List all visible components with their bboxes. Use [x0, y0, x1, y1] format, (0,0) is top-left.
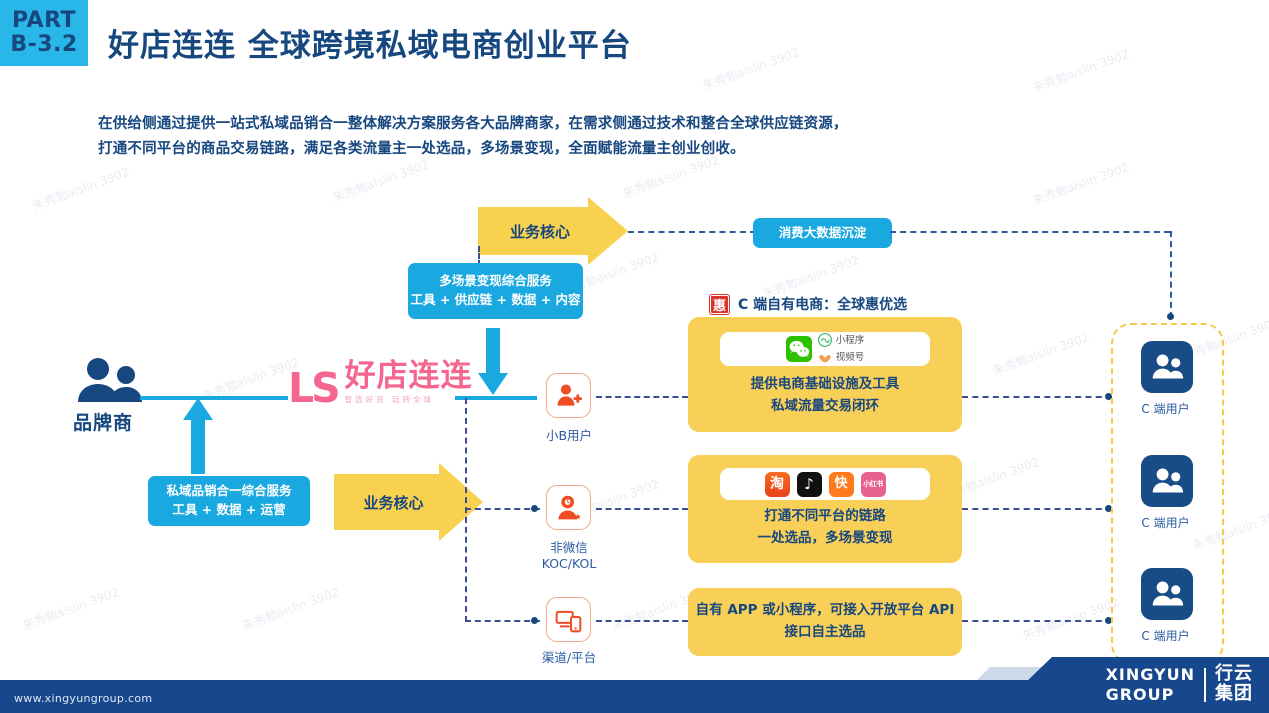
down-arrow-head-icon: [478, 373, 508, 395]
spine-dot-row2: [531, 505, 538, 512]
business-core-arrow-top: 业务核心: [478, 207, 628, 255]
users-icon: [1151, 353, 1184, 381]
xingyun-group-logo: XINGYUN GROUP 行云 集团: [1106, 665, 1253, 704]
ls-brand-logo: LS 好店连连 智选好货 玩转全球: [288, 362, 473, 405]
offer-card-wechat-line1: 提供电商基础设施及工具: [751, 374, 900, 396]
card-to-user-line-3: [962, 620, 1112, 622]
kuaishou-icon: 快: [829, 472, 854, 497]
koc-user-icon: [555, 494, 582, 521]
offer-card-platforms-line2: 一处选品，多场景变现: [758, 528, 893, 550]
hui-badge-icon: 惠: [710, 295, 729, 314]
part-badge-line2: B-3.2: [10, 33, 77, 57]
flow-line-core-to-data: [628, 231, 756, 233]
brand-merchant-icon: [76, 358, 142, 406]
page-title: 好店连连 全球跨境私域电商创业平台: [108, 20, 632, 65]
kuaishou-glyph: 快: [834, 474, 847, 495]
platform-logo-strip: 淘 ♪ 快 小红书: [720, 468, 930, 500]
douyin-icon: ♪: [797, 472, 822, 497]
mini-program-label: 小程序: [836, 333, 865, 348]
ls-logo-mark: LS: [288, 371, 338, 406]
business-core-arrow-bottom: 业务核心: [334, 474, 483, 530]
node-label-koc-line1: 非微信: [520, 540, 618, 556]
node-icon-channel[interactable]: [546, 597, 591, 642]
consumer-data-pill: 消费大数据沉淀: [753, 218, 892, 248]
taobao-glyph: 淘: [770, 473, 784, 495]
offer-card-api: 自有 APP 或小程序，可接入开放平台 API 接口自主选品: [688, 588, 962, 656]
brand-cn-line1: 行云: [1215, 665, 1253, 684]
wechat-logo-strip: 小程序 视频号: [720, 332, 930, 366]
c-user-label-2: C 端用户: [1111, 514, 1220, 531]
xiaohongshu-icon: 小红书: [861, 472, 886, 497]
part-badge: PART B-3.2: [0, 0, 88, 66]
arrow-head-icon: [588, 197, 628, 265]
node-label-koc: 非微信 KOC/KOL: [520, 540, 618, 571]
taobao-icon: 淘: [765, 472, 790, 497]
node-label-channel: 渠道/平台: [520, 650, 618, 666]
offer-card-api-line1: 自有 APP 或小程序，可接入开放平台 API: [696, 600, 955, 622]
douyin-glyph: ♪: [804, 472, 814, 496]
watermark: 朱秀勉aislin 3902: [1030, 45, 1131, 96]
card-to-user-line-1: [962, 396, 1112, 398]
up-arrow-head-icon: [183, 398, 213, 420]
business-core-arrow-top-label: 业务核心: [510, 221, 570, 242]
private-domain-service-line1: 私域品销合一综合服务: [166, 482, 291, 501]
channels-label: 视频号: [836, 350, 865, 365]
offer-card-wechat-line2: 私域流量交易闭环: [771, 396, 879, 418]
ls-logo-tagline: 智选好货 玩转全球: [345, 394, 473, 405]
brand-en-line1: XINGYUN: [1106, 667, 1195, 683]
down-arrow-shaft: [486, 328, 500, 376]
platform-out-line: [455, 396, 537, 400]
node-label-small-b: 小B用户: [520, 428, 618, 444]
subtitle-line-2: 打通不同平台的商品交易链路，满足各类流量主一处选品，多场景变现，全面赋能流量主创…: [98, 137, 1168, 162]
flow-line-data-to-right: [890, 231, 1170, 233]
flow-line-right-down: [1170, 231, 1172, 318]
node-icon-small-b[interactable]: [546, 373, 591, 418]
watermark: 朱秀勉aislin 3902: [20, 583, 121, 634]
node-to-card-line-1: [596, 396, 688, 398]
watermark: 朱秀勉aislin 3902: [30, 163, 131, 214]
brand-to-platform-line: [140, 396, 288, 400]
multi-scene-service-box: 多场景变现综合服务 工具 + 供应链 + 数据 + 内容: [408, 263, 583, 319]
wechat-icon: [786, 336, 812, 362]
multi-scene-service-line2: 工具 + 供应链 + 数据 + 内容: [410, 291, 580, 310]
subtitle-line-1: 在供给侧通过提供一站式私域品销合一整体解决方案服务各大品牌商家，在需求侧通过技术…: [98, 112, 1168, 137]
private-domain-service-line2: 工具 + 数据 + 运营: [172, 501, 285, 520]
multi-scene-service-line1: 多场景变现综合服务: [439, 272, 552, 291]
node-label-koc-line2: KOC/KOL: [520, 556, 618, 572]
brand-merchant-label: 品牌商: [73, 408, 133, 435]
offer-card-api-line2: 接口自主选品: [785, 622, 866, 644]
up-arrow-shaft: [191, 416, 205, 474]
footer-url[interactable]: www.xingyungroup.com: [14, 692, 152, 705]
offer-card-platforms: 淘 ♪ 快 小红书 打通不同平台的链路 一处选品，多场景变现: [688, 455, 962, 563]
spine-dot-row3: [531, 617, 538, 624]
brand-cn-line2: 集团: [1215, 685, 1253, 704]
offer-card-wechat: 小程序 视频号 提供电商基础设施及工具 私域流量交易闭环: [688, 317, 962, 432]
watermark: 朱秀勉aislin 3902: [240, 583, 341, 634]
spine-branch-row2: [465, 508, 540, 510]
brand-en-line2: GROUP: [1106, 687, 1175, 703]
c-user-icon-1[interactable]: [1141, 341, 1193, 393]
ls-logo-name: 好店连连: [345, 362, 473, 391]
user-add-icon: [555, 382, 582, 409]
node-to-card-line-3: [596, 620, 688, 622]
c-user-icon-3[interactable]: [1141, 568, 1193, 620]
users-icon: [1151, 580, 1184, 608]
brand-divider: [1204, 668, 1206, 702]
business-core-arrow-bottom-label: 业务核心: [363, 492, 423, 513]
spine-branch-row3: [465, 620, 540, 622]
c-end-ecommerce-heading-label: C 端自有电商：全球惠优选: [738, 294, 907, 314]
card-to-user-line-2: [962, 508, 1112, 510]
spine-vertical-line: [465, 398, 467, 622]
consumer-data-pill-label: 消费大数据沉淀: [779, 224, 867, 243]
mini-program-icon: [818, 333, 832, 347]
c-end-ecommerce-heading: 惠 C 端自有电商：全球惠优选: [710, 294, 907, 314]
slide-root: PART B-3.2 好店连连 全球跨境私域电商创业平台 在供给侧通过提供一站式…: [0, 0, 1269, 713]
c-user-label-1: C 端用户: [1111, 400, 1220, 417]
arrow-head-icon: [439, 463, 483, 541]
flow-endpoint-dot: [1167, 313, 1174, 320]
subtitle-paragraph: 在供给侧通过提供一站式私域品销合一整体解决方案服务各大品牌商家，在需求侧通过技术…: [98, 112, 1168, 163]
node-to-card-line-2: [596, 508, 688, 510]
c-user-label-3: C 端用户: [1111, 627, 1220, 644]
watermark: 朱秀勉aislin 3902: [1030, 158, 1131, 209]
watermark: 朱秀勉aislin 3902: [990, 328, 1091, 379]
users-icon: [1151, 467, 1184, 495]
offer-card-platforms-line1: 打通不同平台的链路: [764, 506, 886, 528]
c-user-icon-2[interactable]: [1141, 455, 1193, 507]
xiaohongshu-glyph: 小红书: [863, 479, 883, 490]
part-badge-line1: PART: [12, 9, 76, 33]
watermark: 朱秀勉aislin 3902: [700, 43, 801, 94]
node-icon-koc[interactable]: [546, 485, 591, 530]
devices-icon: [555, 606, 582, 633]
private-domain-service-box: 私域品销合一综合服务 工具 + 数据 + 运营: [148, 476, 310, 526]
channels-icon: [818, 351, 832, 365]
